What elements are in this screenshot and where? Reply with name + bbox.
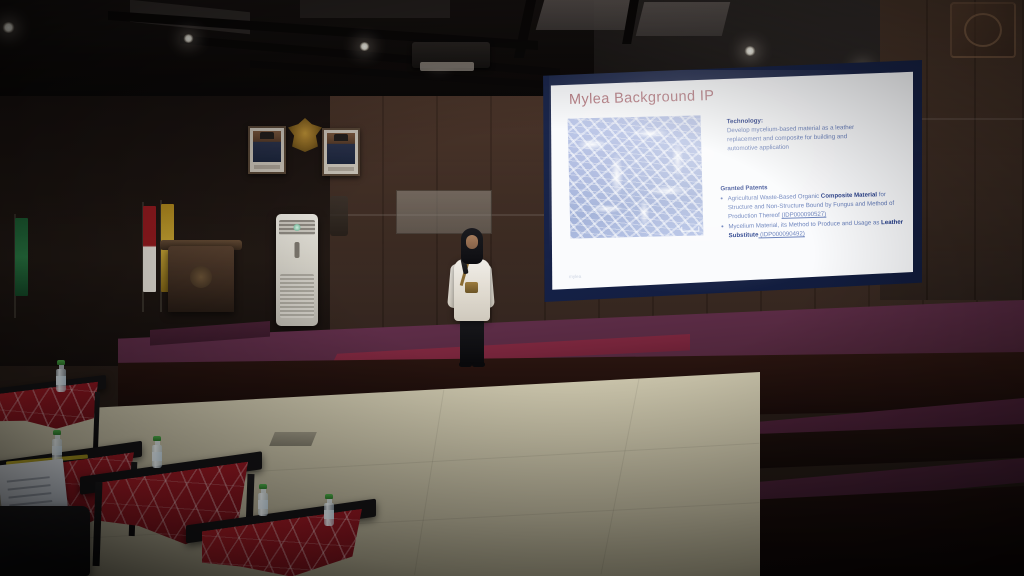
- bottle-label: [52, 446, 62, 455]
- granted-patents-list: Agricultural Waste-Based Organic Composi…: [721, 190, 906, 241]
- portrait-nameplate: [328, 167, 354, 171]
- floor-grate: [269, 432, 317, 446]
- bullet-icon: [721, 225, 723, 227]
- guest-table-4: [186, 500, 396, 576]
- ceiling-panel: [300, 0, 450, 18]
- patent-text-segment: Agricultural Waste-Based Organic: [728, 193, 821, 202]
- presenter-shoe: [472, 362, 485, 367]
- slide-title: Mylea Background IP: [569, 88, 715, 108]
- paper-line: [8, 492, 52, 499]
- patent-list-item: Agricultural Waste-Based Organic Composi…: [721, 190, 906, 222]
- bottle-label: [152, 452, 162, 461]
- paper-line: [7, 476, 51, 483]
- technology-block: Technology: Develop mycelium-based mater…: [727, 113, 903, 154]
- floor-tile-line: [601, 374, 641, 574]
- auditorium-scene: Mylea Background IP Technology: Develop …: [0, 0, 1024, 576]
- patent-list-item: Mycelium Material, its Method to Produce…: [721, 218, 905, 241]
- paper-line: [8, 484, 52, 491]
- bottle-label: [324, 510, 334, 519]
- ceiling-light-panel: [636, 2, 730, 36]
- patent-text-segment: Composite Material: [821, 191, 877, 199]
- presenter-bag: [465, 282, 478, 293]
- flag-indonesia: [143, 206, 156, 292]
- patent-text-segment: Mycelium Material, its Method to Produce…: [728, 220, 881, 231]
- ac-display-slot: [295, 242, 300, 258]
- portrait-nameplate: [254, 165, 280, 169]
- presenter-trousers: [460, 318, 484, 364]
- patent-text-segment: (IDP000090492): [758, 231, 805, 239]
- bottle-label: [56, 376, 66, 385]
- sem-micrograph-mycelium: [568, 115, 704, 238]
- bullet-icon: [721, 197, 723, 199]
- downlight-icon: [183, 34, 194, 43]
- wall-speaker: [330, 196, 348, 236]
- projection-screen: Mylea Background IP Technology: Develop …: [540, 60, 922, 302]
- flag-institution-green: [15, 218, 28, 296]
- patent-text-segment: (IDP000090527): [781, 211, 826, 219]
- podium-crest: [190, 266, 212, 288]
- lounge-chair[interactable]: [0, 506, 90, 576]
- sem-scale-bar: [681, 226, 699, 231]
- wooden-podium: [168, 246, 234, 312]
- ac-vent: [280, 274, 314, 318]
- slide-content: Mylea Background IP Technology: Develop …: [549, 70, 913, 292]
- floor-tile-line: [414, 373, 447, 575]
- wall-medallion: [950, 2, 1016, 58]
- slide-footer: mylea: [569, 274, 581, 279]
- downlight-icon: [2, 22, 15, 33]
- ac-led-icon: [294, 224, 301, 231]
- portrait-cap: [260, 132, 274, 139]
- stage-step-riser: [740, 486, 1024, 576]
- ceiling-projector: [412, 42, 490, 68]
- ceiling-light-panel: [536, 0, 637, 30]
- portrait-cap: [334, 134, 348, 141]
- president-portrait: [248, 126, 286, 174]
- downlight-icon: [744, 46, 756, 56]
- presenter: [447, 228, 495, 368]
- presenter-face: [466, 235, 478, 249]
- presenter-shoe: [459, 362, 472, 367]
- granted-patents-block: Granted Patents Agricultural Waste-Based…: [720, 180, 905, 241]
- table-leg: [93, 482, 103, 566]
- bottle-label: [258, 500, 268, 509]
- floor-standing-air-conditioner[interactable]: [276, 214, 318, 326]
- vice-president-portrait: [322, 128, 360, 176]
- downlight-icon: [359, 42, 370, 51]
